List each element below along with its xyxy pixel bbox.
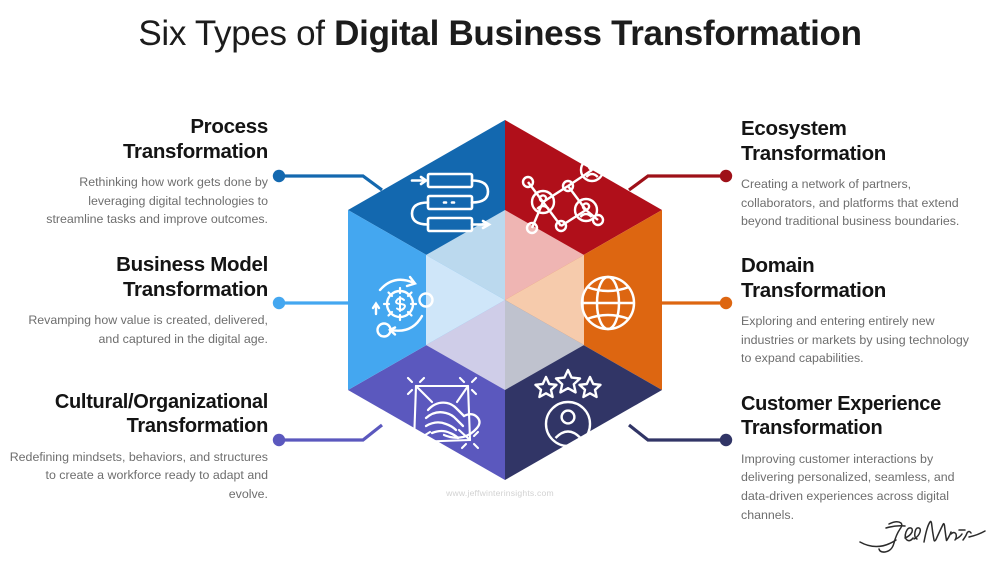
segment-business-model-heading: Business Model Transformation <box>20 252 268 302</box>
page-title: Six Types of Digital Business Transforma… <box>0 14 1000 54</box>
connector-dot-domain <box>720 297 732 309</box>
segment-ecosystem-heading: Ecosystem Transformation <box>741 116 971 166</box>
segment-process-body: Rethinking how work gets done by leverag… <box>40 173 268 229</box>
connector-dot-cultural <box>273 434 285 446</box>
segment-cultural-organizational-heading: Cultural/Organizational Transformation <box>8 390 268 439</box>
hexagon-diagram <box>340 110 670 490</box>
connector-domain <box>662 297 732 309</box>
connector-dot-business-model <box>273 297 285 309</box>
segment-process: Process Transformation Rethinking how wo… <box>40 114 268 229</box>
segment-domain-body: Exploring and entering entirely new indu… <box>741 312 971 368</box>
segment-domain: Domain Transformation Exploring and ente… <box>741 253 971 368</box>
segment-ecosystem-body: Creating a network of partners, collabor… <box>741 175 971 231</box>
site-url: www.jeffwinterinsights.com <box>0 488 1000 498</box>
segment-domain-heading: Domain Transformation <box>741 253 971 303</box>
connector-business-model <box>273 297 349 309</box>
signature <box>856 512 988 556</box>
segment-customer-experience-heading: Customer Experience Transformation <box>741 392 973 441</box>
segment-business-model-body: Revamping how value is created, delivere… <box>20 311 268 348</box>
segment-ecosystem: Ecosystem Transformation Creating a netw… <box>741 116 971 231</box>
segment-business-model: Business Model Transformation Revamping … <box>20 252 268 348</box>
connector-dot-customer-experience <box>720 434 732 446</box>
segment-customer-experience: Customer Experience Transformation Impro… <box>741 392 973 524</box>
segment-cultural-organizational: Cultural/Organizational Transformation R… <box>8 390 268 504</box>
signature-mark <box>856 512 988 556</box>
title-emphasis: Digital Business Transformation <box>334 14 861 53</box>
title-lead: Six Types of <box>138 14 334 53</box>
connector-dot-ecosystem <box>720 170 732 182</box>
connector-dot-process <box>273 170 285 182</box>
segment-process-heading: Process Transformation <box>40 114 268 164</box>
